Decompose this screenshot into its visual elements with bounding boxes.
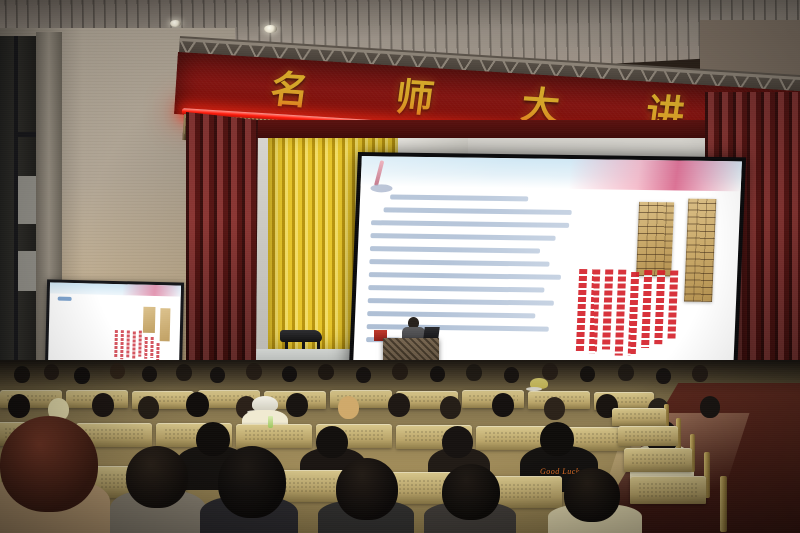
auditorium-seat bbox=[630, 476, 706, 504]
banner-char-1: 名 bbox=[267, 62, 312, 118]
side-seal-column bbox=[126, 330, 130, 357]
audience-area: Good Luck bbox=[0, 360, 800, 533]
seal-script-column bbox=[589, 269, 601, 353]
audience-head bbox=[700, 396, 720, 418]
side-seal-column bbox=[114, 330, 118, 358]
slide-text-line bbox=[370, 233, 555, 241]
drink-bottle bbox=[268, 416, 273, 428]
side-seal-column bbox=[156, 343, 159, 360]
audience-head bbox=[492, 393, 514, 417]
audience-head bbox=[138, 396, 159, 419]
audience-head bbox=[282, 366, 297, 382]
audience-head bbox=[540, 422, 574, 456]
audience-head bbox=[656, 368, 671, 384]
audience-head bbox=[92, 393, 114, 417]
side-seal-column bbox=[132, 331, 136, 359]
side-monitor[interactable] bbox=[45, 279, 184, 372]
audience-head bbox=[504, 367, 519, 383]
auditorium-seat bbox=[236, 424, 312, 448]
ceiling-spotlight bbox=[264, 25, 277, 33]
audience-head bbox=[210, 367, 225, 383]
audience-head bbox=[110, 363, 125, 379]
audience-head bbox=[356, 367, 371, 383]
auditorium-seat bbox=[618, 426, 678, 446]
audience-head bbox=[692, 365, 708, 382]
audience-head-front bbox=[218, 446, 286, 518]
banner-char-2: 师 bbox=[393, 70, 438, 126]
side-slide-accent-streak bbox=[123, 284, 181, 296]
seal-script-column bbox=[628, 272, 640, 356]
slide-text-line bbox=[367, 311, 535, 318]
audience-head bbox=[466, 364, 482, 381]
seat-row-post bbox=[720, 476, 727, 532]
audience-head bbox=[196, 422, 230, 456]
audience-head bbox=[286, 393, 308, 417]
side-seal-column bbox=[150, 337, 154, 358]
slide-header-accent-streak bbox=[570, 159, 742, 191]
stage-curtain-left bbox=[186, 112, 258, 377]
audience-head bbox=[186, 392, 209, 417]
audience-head-front bbox=[564, 468, 620, 522]
audience-head-front bbox=[126, 446, 188, 508]
calligraphy-image bbox=[636, 202, 674, 276]
side-monitor-surface bbox=[48, 282, 181, 369]
audience-head bbox=[142, 366, 157, 382]
side-calligraphy-image bbox=[143, 307, 156, 333]
audience-head bbox=[246, 363, 262, 380]
audience-head-front bbox=[442, 464, 500, 520]
seal-script-column bbox=[641, 270, 652, 348]
audience-head bbox=[544, 397, 565, 420]
seal-script-column bbox=[615, 270, 627, 356]
slide-text-line bbox=[367, 324, 549, 332]
audience-head bbox=[8, 394, 30, 418]
audience-head bbox=[176, 364, 192, 381]
slide-text-line bbox=[369, 259, 549, 267]
audience-head bbox=[338, 396, 359, 419]
auditorium-seat bbox=[612, 408, 666, 426]
slide-text-line bbox=[368, 298, 554, 306]
audience-head bbox=[44, 364, 59, 380]
audience-head bbox=[318, 364, 334, 380]
calligraphy-image bbox=[684, 199, 716, 302]
audience-head bbox=[74, 367, 90, 384]
slide-text-line bbox=[390, 194, 528, 201]
lecture-hall-photo: 名 师 大 讲 堂 bbox=[0, 0, 800, 533]
audience-head-front bbox=[336, 458, 398, 520]
slide-text-line bbox=[371, 220, 569, 228]
audience-head bbox=[392, 363, 408, 380]
slide-text-line bbox=[369, 272, 561, 280]
side-seal-column bbox=[144, 337, 148, 359]
slide-text-line bbox=[370, 246, 540, 253]
audience-head bbox=[618, 364, 634, 381]
side-seal-column bbox=[138, 331, 142, 357]
side-seal-column bbox=[120, 330, 124, 359]
audience-head bbox=[14, 366, 30, 383]
audience-head bbox=[430, 366, 445, 382]
seal-script-column bbox=[576, 269, 587, 351]
audience-head bbox=[580, 366, 595, 382]
seal-script-column bbox=[667, 270, 678, 340]
audience-head bbox=[442, 426, 473, 458]
side-calligraphy-image bbox=[160, 308, 171, 341]
audience-head bbox=[316, 426, 348, 458]
seal-script-column bbox=[602, 269, 613, 349]
audience-head bbox=[542, 363, 558, 380]
white-cap bbox=[530, 378, 548, 389]
seal-script-column bbox=[654, 270, 665, 344]
slide-text-line bbox=[383, 207, 571, 215]
auditorium-seat bbox=[624, 448, 692, 472]
audience-head-front bbox=[0, 416, 98, 512]
side-slide-logo bbox=[58, 297, 72, 301]
audience-head bbox=[388, 393, 410, 417]
slide-text-line bbox=[368, 285, 544, 292]
ceiling-spotlight bbox=[170, 20, 181, 27]
audience-head bbox=[440, 396, 461, 419]
curtain-header bbox=[240, 120, 740, 138]
